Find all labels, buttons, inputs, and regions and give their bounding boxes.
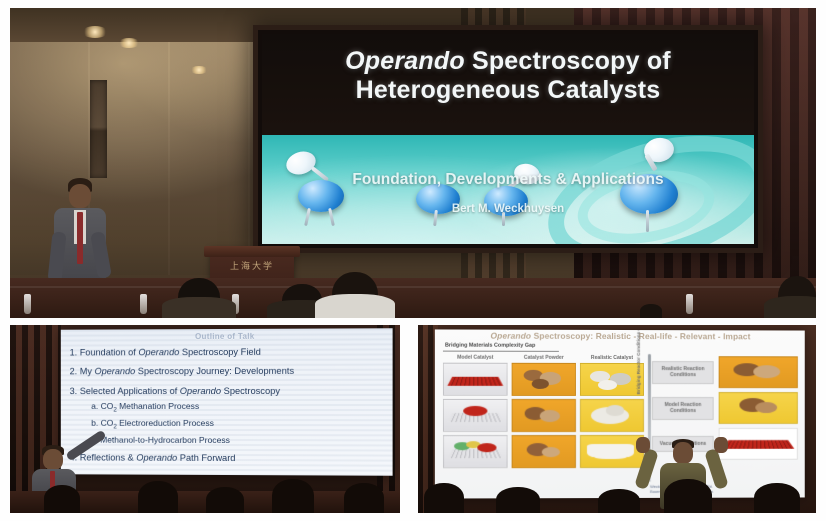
slide-author: Bert M. Weckhuysen [262,203,754,215]
grid-cell-realistic [580,363,644,396]
column-header: Model Catalyst [443,354,508,364]
audience-head [344,483,384,513]
column-header: Realistic Catalyst [580,354,644,363]
outline-subitem-pre: Methanol-to-Hydrocarbon Process [100,435,230,445]
outline-item-post: Spectroscopy [221,386,280,396]
condition-row: Realistic Reaction Conditions [652,356,799,388]
slide-title: Operando Spectroscopy of Heterogeneous C… [262,47,754,106]
outline-item: 4. Reflections & Operando Path Forward [69,453,385,465]
materials-grid: Model Catalyst Catalyst Powder Realistic… [443,354,644,472]
audience-head [598,489,640,513]
speaker-head [69,184,91,208]
outline-item: 1. Foundation of Operando Spectroscopy F… [69,346,385,357]
outline-subitem: c. Methanol-to-Hydrocarbon Process [91,435,386,447]
audience-head [496,487,540,513]
condition-image [719,356,798,388]
grid-row [443,399,644,432]
grid-column-headers: Model Catalyst Catalyst Powder Realistic… [443,354,644,364]
slide-title-italic: Operando [345,47,465,75]
grid-cell-powder [512,399,576,432]
top-lecture-photo: Operando Spectroscopy of Heterogeneous C… [10,8,816,318]
conditions-axis-label: Bridging Reactor Conditions Gap [636,329,641,416]
outline-subitem-post: Electroreduction Process [117,418,214,428]
section-label: Bridging Materials Complexity Gap [445,343,535,349]
outline-subitem-pre: CO [100,418,113,428]
outline-subitem-post: Methanation Process [117,401,199,411]
audience-head [332,272,378,318]
outline-item: 3. Selected Applications of Operando Spe… [69,386,385,397]
audience-head [664,479,712,513]
outline-subitem-letter: b. [91,418,98,428]
bottom-right-materials-photo: Operando Spectroscopy: Realistic - Real-… [418,325,816,513]
section-rule [443,351,559,352]
outline-item-pre: Foundation of [80,347,139,357]
audience-head [640,304,662,318]
slide-title-rest: Spectroscopy of [465,47,671,75]
audience-row [10,256,816,318]
grid-cell-model [443,435,508,468]
speaker-arm [704,448,729,490]
slide-header-italic: Operando [490,331,531,341]
grid-cell-model [443,399,508,432]
audience-head [44,485,80,513]
photo-collage: Operando Spectroscopy of Heterogeneous C… [0,0,826,521]
condition-row: Model Reaction Conditions [652,392,799,424]
outline-slide-header: Outline of Talk [61,331,392,341]
grid-cell-powder [512,435,576,468]
water-bottle [140,294,147,314]
outline-item-post: Path Forward [177,453,235,463]
condition-image [719,428,798,460]
condition-image [719,392,798,424]
materials-complexity-slide: Operando Spectroscopy: Realistic - Real-… [435,329,805,498]
audience-head [272,479,314,513]
outline-item-italic: Operando [94,367,135,377]
outline-item-pre: Selected Applications of [80,386,180,396]
outline-subitem-letter: a. [91,401,98,411]
water-bottle [686,294,693,314]
outline-subitem: a. CO2 Methanation Process [91,401,386,415]
grid-cell-powder [512,363,576,396]
projection-screen-frame: Operando Spectroscopy of Heterogeneous C… [258,30,758,248]
outline-subitem: b. CO2 Electroreduction Process [91,418,386,432]
slide-title-line2: Heterogeneous Catalysts [262,76,754,106]
speaker-hand [714,437,728,453]
grid-cell-model [443,363,508,396]
ceiling-light-icon [82,26,108,38]
grid-row [443,435,644,468]
speaker-head [673,442,693,464]
outline-item-number: 1. [69,348,77,358]
slide-header: Operando Spectroscopy: Realistic - Real-… [435,330,805,341]
audience-head [754,483,800,513]
column-header: Catalyst Powder [512,354,576,364]
bottom-left-outline-photo: Outline of Talk 1. Foundation of Operand… [10,325,400,513]
audience-head [178,278,220,318]
speaker-head [43,449,63,470]
slide-subtitle: Foundation, Developments & Applications [262,171,754,189]
outline-item-italic: Operando [138,347,179,357]
ceiling-light-icon [118,38,140,48]
ceiling-light-icon [190,66,208,74]
audience-head [138,481,178,513]
condition-label: Realistic Reaction Conditions [652,361,714,384]
wall-niche [90,80,107,178]
outline-item-italic: Operando [136,453,177,463]
outline-item-number: 3. [69,386,77,396]
water-bottle [24,294,31,314]
outline-item-post: Spectroscopy Field [179,347,261,357]
condition-label: Model Reaction Conditions [652,397,714,420]
front-bench [10,278,816,318]
grid-row [443,363,644,396]
speaker-hand [636,437,650,453]
audience-head [778,276,816,318]
outline-subitem-pre: CO [100,401,113,411]
audience-head [206,487,244,513]
speaker-arm [634,448,659,490]
outline-slide: Outline of Talk 1. Foundation of Operand… [61,328,392,476]
audience-head [424,483,464,513]
outline-item-post: Spectroscopy Journey: Developments [135,366,294,376]
title-slide: Operando Spectroscopy of Heterogeneous C… [262,34,754,244]
outline-item-italic: Operando [180,386,221,396]
outline-item: 2. My Operando Spectroscopy Journey: Dev… [69,366,385,377]
outline-item-number: 2. [69,367,77,377]
outline-item-pre: My [80,367,95,377]
outline-list: 1. Foundation of Operando Spectroscopy F… [69,346,385,473]
